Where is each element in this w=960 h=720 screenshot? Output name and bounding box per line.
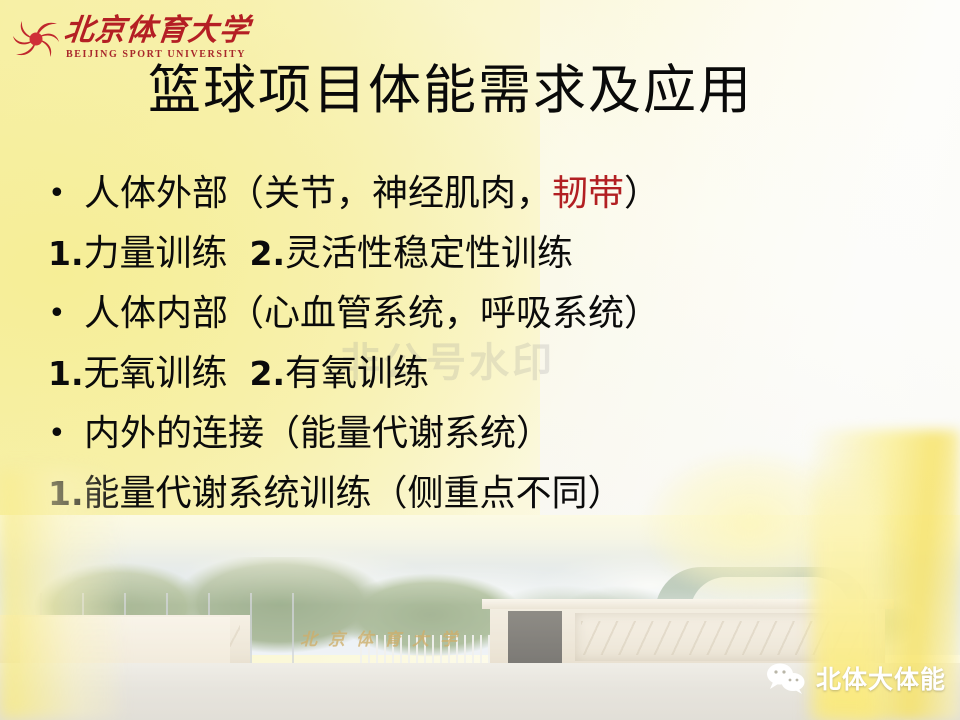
list-item-2b: 有氧训练	[285, 353, 429, 394]
wechat-icon	[765, 662, 807, 694]
numbered-line-2: 1.无氧训练2.有氧训练	[48, 344, 928, 404]
wechat-account-name: 北体大体能	[816, 660, 946, 696]
bsu-spiral-emblem-icon	[12, 16, 60, 62]
slide-title: 篮球项目体能需求及应用	[148, 60, 753, 122]
list-number-3a: 1.	[48, 474, 84, 513]
bullet-text-2a: 人体内部（心血管系统，呼吸系统）	[84, 293, 660, 334]
bullet-dot-icon: •	[48, 404, 74, 464]
photo-top-fade	[0, 515, 960, 605]
bullet-text-1a: 人体外部（关节，神经肌肉，	[84, 173, 552, 214]
list-item-1b: 灵活性稳定性训练	[285, 233, 573, 274]
bullet-line-3: •内外的连接（能量代谢系统）	[48, 404, 928, 464]
bullet-text-1-highlight: 韧带	[552, 173, 624, 214]
list-number-2a: 1.	[48, 354, 84, 393]
list-number-1a: 1.	[48, 234, 84, 273]
bullet-text-1b: ）	[624, 173, 660, 214]
logo-name-cn: 北京体育大学	[62, 14, 252, 48]
bullet-line-2: •人体内部（心血管系统，呼吸系统）	[48, 284, 928, 344]
logo-name-en: BEIJING SPORT UNIVERSITY	[66, 49, 246, 60]
list-item-2a: 无氧训练	[84, 353, 228, 394]
list-item-1a: 力量训练	[84, 233, 228, 274]
list-item-3a: 能量代谢系统训练（侧重点不同）	[84, 473, 624, 514]
bullet-line-1: •人体外部（关节，神经肌肉，韧带）	[48, 164, 928, 224]
bullet-dot-icon: •	[48, 164, 74, 224]
bullet-text-3a: 内外的连接（能量代谢系统）	[84, 413, 552, 454]
list-number-2b: 2.	[250, 354, 286, 393]
slide-root: 北京体育大学 BEIJING SPORT UNIVERSITY 篮球项目体能需求…	[0, 0, 960, 720]
list-number-1b: 2.	[250, 234, 286, 273]
numbered-line-1: 1.力量训练2.灵活性稳定性训练	[48, 224, 928, 284]
slide-body-list: •人体外部（关节，神经肌肉，韧带） 1.力量训练2.灵活性稳定性训练 •人体内部…	[48, 164, 928, 524]
bullet-dot-icon: •	[48, 284, 74, 344]
wechat-account-badge: 北体大体能	[765, 658, 946, 698]
